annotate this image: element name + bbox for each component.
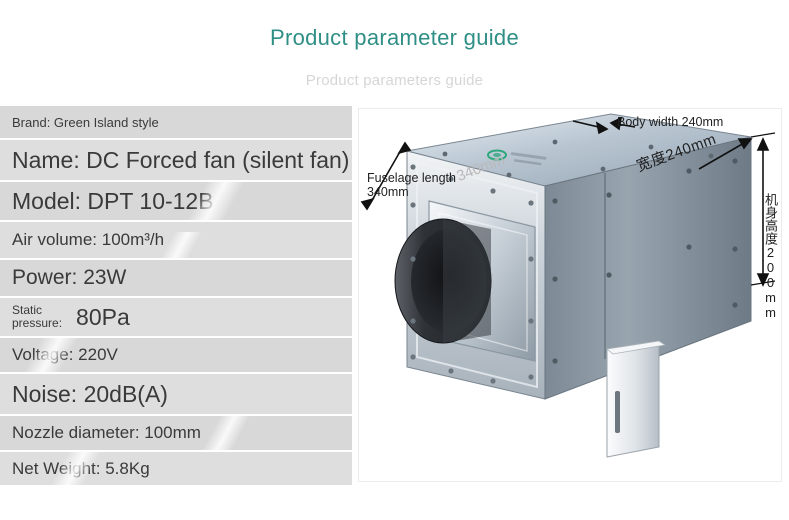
static-pressure-label: Static pressure: xyxy=(12,304,62,330)
spec-text: Nozzle diameter: 100mm xyxy=(12,423,201,443)
spec-row: Net Weight: 5.8Kg xyxy=(0,452,352,485)
spec-row-static-pressure: Static pressure: 80Pa xyxy=(0,298,352,336)
dim-body-height-cn-label: 机身高度200mm xyxy=(763,193,777,320)
page-header: Product parameter guide Product paramete… xyxy=(0,0,789,104)
specification-list: Brand: Green Island style Name: DC Force… xyxy=(0,106,352,485)
product-photo-duct-fan xyxy=(359,109,782,482)
spec-text: Air volume: 100m³/h xyxy=(12,230,164,250)
dim-fuselage-length-label: Fuselage length 340mm xyxy=(367,171,456,199)
spec-row: Name: DC Forced fan (silent fan) xyxy=(0,140,352,180)
spec-row: Air volume: 100m³/h xyxy=(0,222,352,258)
spec-text: Voltage: 220V xyxy=(12,345,118,365)
spec-row: Power: 23W xyxy=(0,260,352,296)
spec-text: Name: DC Forced fan (silent fan) xyxy=(12,147,349,174)
static-pressure-value: 80Pa xyxy=(76,304,130,331)
dim-body-width-label: Body width 240mm xyxy=(617,115,723,129)
spec-text: Power: 23W xyxy=(12,266,126,290)
spec-text: Brand: Green Island style xyxy=(12,115,159,130)
spec-row: Nozzle diameter: 100mm xyxy=(0,416,352,450)
spec-row: Voltage: 220V xyxy=(0,338,352,372)
spec-row: Brand: Green Island style xyxy=(0,106,352,138)
spec-row: Noise: 20dB(A) xyxy=(0,374,352,414)
spec-text: Noise: 20dB(A) xyxy=(12,381,168,408)
page-subtitle: Product parameters guide xyxy=(0,72,789,89)
spec-row: Model: DPT 10-12B xyxy=(0,182,352,220)
page-title: Product parameter guide xyxy=(0,25,789,51)
spec-text: Model: DPT 10-12B xyxy=(12,188,214,215)
spec-text: Net Weight: 5.8Kg xyxy=(12,459,150,479)
product-image-panel: Body width 240mm 宽度240mm Fuselage length… xyxy=(358,108,782,482)
